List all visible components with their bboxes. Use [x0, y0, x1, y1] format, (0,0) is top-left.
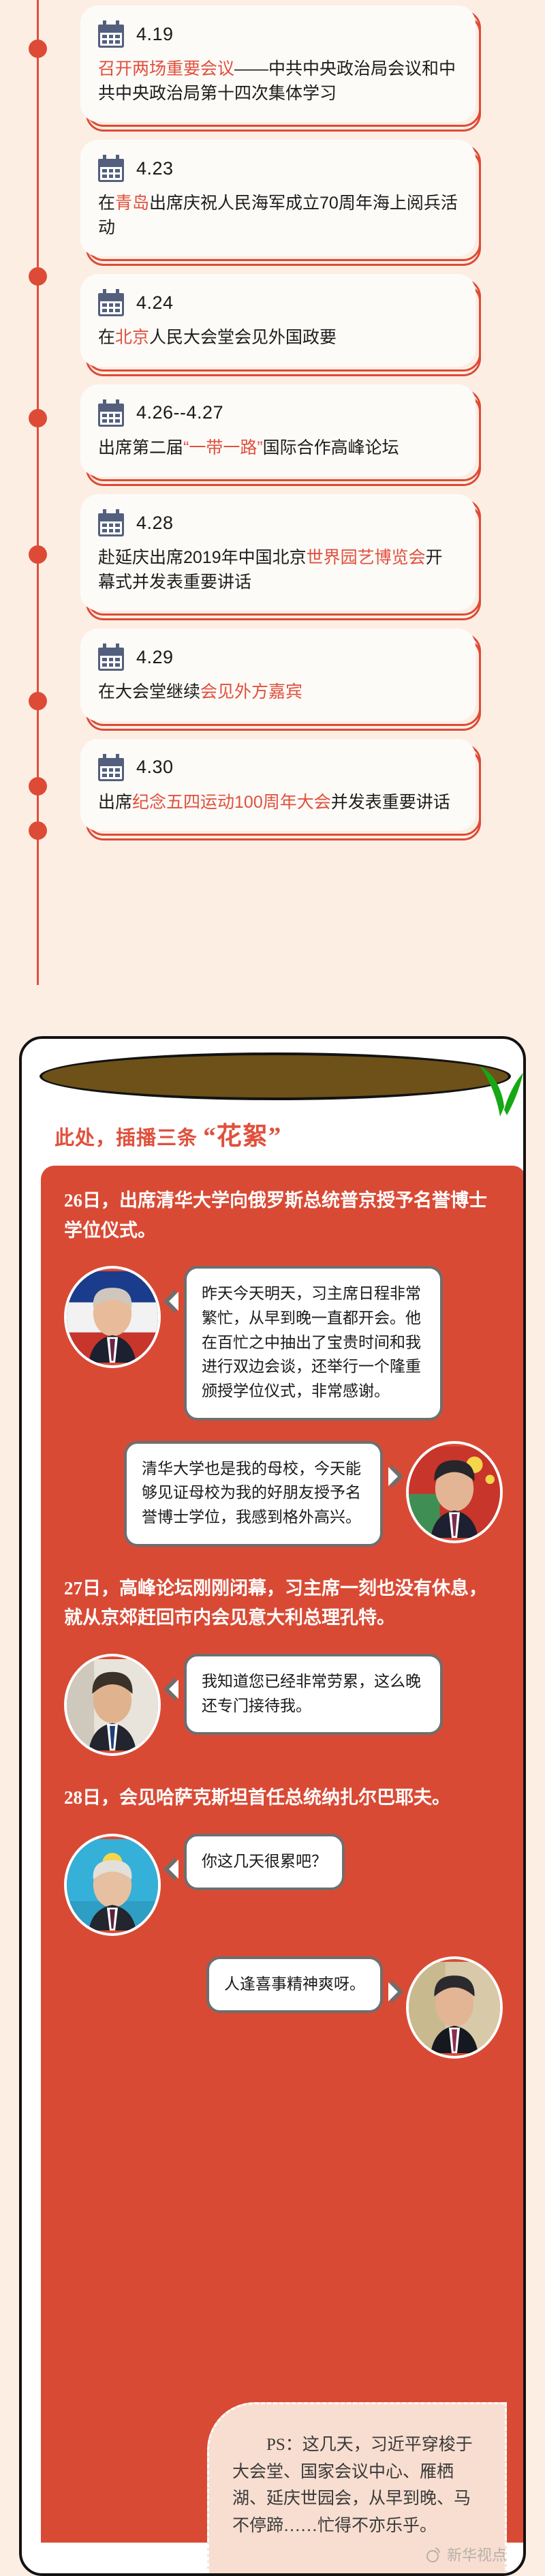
- story-heading: 26日，出席清华大学向俄罗斯总统普京授予名誉博士学位仪式。: [64, 1186, 503, 1245]
- card-body-text: 在北京人民大会堂会见外国政要: [98, 326, 458, 350]
- timeline-dot-6: [29, 821, 47, 840]
- card-text-segment: 并发表重要讲话: [331, 793, 450, 812]
- timeline-card[interactable]: 4.19召开两场重要会议——中共中央政治局会议和中共中央政治局第十四次集体学习: [80, 5, 476, 122]
- calendar-icon: [98, 754, 124, 781]
- speech-bubble: 人逢喜事精神爽呀。: [206, 1956, 383, 2014]
- speech-bubble: 昨天今天明天，习主席日程非常繁忙，从早到晚一直都开会。他在百忙之中抽出了宝贵时间…: [184, 1266, 443, 1420]
- calendar-icon: [98, 509, 124, 536]
- watermark-label: 新华视点: [447, 2543, 507, 2565]
- planter-title-prefix: 此处，插播三条: [54, 1127, 198, 1149]
- card-body-text: 出席第二届“一带一路”国际合作高峰论坛: [98, 436, 458, 461]
- card-text-segment: 出席庆祝人民海军成立70周年海上阅兵活动: [98, 194, 458, 237]
- planter-title: 此处，插播三条 “花絮”: [54, 1115, 504, 1152]
- planter-title-quoted: “花絮”: [203, 1123, 281, 1151]
- card-date: 4.26--4.27: [136, 402, 223, 423]
- timeline-card[interactable]: 4.29在大会堂继续会见外方嘉宾: [80, 628, 476, 721]
- card-body-text: 在青岛出席庆祝人民海军成立70周年海上阅兵活动: [98, 192, 458, 240]
- timeline-dot-3: [29, 545, 47, 564]
- card-text-segment: 在: [98, 328, 115, 347]
- card-text-segment: 出席: [98, 793, 132, 812]
- card-text-segment: “一带一路”: [183, 438, 263, 457]
- timeline-card[interactable]: 4.24在北京人民大会堂会见外国政要: [80, 274, 476, 367]
- bubble-row: 昨天今天明天，习主席日程非常繁忙，从早到晚一直都开会。他在百忙之中抽出了宝贵时间…: [64, 1266, 503, 1420]
- story-heading: 28日，会见哈萨克斯坦首任总统纳扎尔巴耶夫。: [64, 1783, 503, 1813]
- story-block: 28日，会见哈萨克斯坦首任总统纳扎尔巴耶夫。你这几天很累吧？人逢喜事精神爽呀。: [64, 1783, 503, 2059]
- watermark: 新华视点: [424, 2543, 507, 2565]
- bubble-row: 人逢喜事精神爽呀。: [64, 1956, 503, 2059]
- story-block: 26日，出席清华大学向俄罗斯总统普京授予名誉博士学位仪式。昨天今天明天，习主席日…: [64, 1186, 503, 1547]
- calendar-icon: [98, 20, 124, 48]
- xi-avatar-2: [406, 1956, 503, 2059]
- card-text-segment: 召开两场重要会议: [98, 59, 234, 78]
- timeline-dot-1: [29, 267, 47, 286]
- story-block: 27日，高峰论坛刚刚闭幕，习主席一刻也没有休息，就从京郊赶回市内会见意大利总理孔…: [64, 1574, 503, 1756]
- card-text-segment: 人民大会堂会见外国政要: [149, 328, 337, 347]
- card-header: 4.24: [98, 289, 458, 316]
- timeline-dot-4: [29, 692, 47, 710]
- timeline-dot-5: [29, 777, 47, 795]
- card-header: 4.26--4.27: [98, 399, 458, 427]
- timeline-card[interactable]: 4.23在青岛出席庆祝人民海军成立70周年海上阅兵活动: [80, 140, 476, 256]
- card-date: 4.19: [136, 24, 174, 45]
- bubble-row: 你这几天很累吧？: [64, 1834, 503, 1936]
- card-body-text: 在大会堂继续会见外方嘉宾: [98, 680, 458, 705]
- putin-avatar: [64, 1266, 161, 1368]
- calendar-icon: [98, 289, 124, 316]
- bubble-row: 我知道您已经非常劳累，这么晚还专门接待我。: [64, 1654, 503, 1756]
- card-body-text: 赴延庆出席2019年中国北京世界园艺博览会开幕式并发表重要讲话: [98, 546, 458, 594]
- sprout-icon: [477, 1065, 525, 1117]
- card-body-text: 召开两场重要会议——中共中央政治局会议和中共中央政治局第十四次集体学习: [98, 57, 458, 106]
- story-heading: 27日，高峰论坛刚刚闭幕，习主席一刻也没有休息，就从京郊赶回市内会见意大利总理孔…: [64, 1574, 503, 1633]
- card-text-segment: 青岛: [115, 194, 149, 213]
- card-date: 4.30: [136, 757, 174, 778]
- ps-text: PS：这几天，习近平穿梭于大会堂、国家会议中心、雁栖湖、延庆世园会，从早到晚、马…: [232, 2431, 482, 2539]
- card-header: 4.29: [98, 643, 458, 671]
- card-text-segment: 世界园艺博览会: [307, 548, 426, 567]
- nazarbayev-avatar: [64, 1834, 161, 1936]
- calendar-icon: [98, 155, 124, 182]
- planter-soil: [40, 1052, 511, 1100]
- timeline-section: 4.19召开两场重要会议——中共中央政治局会议和中共中央政治局第十四次集体学习4…: [0, 0, 545, 985]
- card-date: 4.24: [136, 292, 174, 314]
- calendar-icon: [98, 399, 124, 427]
- story-block-list: 26日，出席清华大学向俄罗斯总统普京授予名誉博士学位仪式。昨天今天明天，习主席日…: [64, 1186, 503, 2059]
- card-date: 4.29: [136, 647, 174, 668]
- card-date: 4.28: [136, 513, 174, 534]
- speech-bubble: 清华大学也是我的母校，今天能够见证母校为我的好朋友授予名誉博士学位，我感到格外高…: [124, 1441, 383, 1547]
- bubble-row: 清华大学也是我的母校，今天能够见证母校为我的好朋友授予名誉博士学位，我感到格外高…: [64, 1441, 503, 1547]
- card-header: 4.23: [98, 155, 458, 182]
- conte-avatar: [64, 1654, 161, 1756]
- card-text-segment: 赴延庆出席2019年中国北京: [98, 548, 307, 567]
- card-header: 4.28: [98, 509, 458, 536]
- card-date: 4.23: [136, 158, 174, 179]
- weibo-icon: [424, 2545, 441, 2563]
- card-header: 4.19: [98, 20, 458, 48]
- card-text-segment: 国际合作高峰论坛: [263, 438, 399, 457]
- calendar-icon: [98, 643, 124, 671]
- card-text-segment: 会见外方嘉宾: [200, 682, 302, 701]
- timeline-card[interactable]: 4.30出席纪念五四运动100周年大会并发表重要讲话: [80, 739, 476, 832]
- card-header: 4.30: [98, 754, 458, 781]
- card-text-segment: 在大会堂继续: [98, 682, 200, 701]
- card-text-segment: 出席第二届: [98, 438, 183, 457]
- card-text-segment: 在: [98, 194, 115, 213]
- speech-bubble: 你这几天很累吧？: [184, 1834, 345, 1891]
- timeline-card-list: 4.19召开两场重要会议——中共中央政治局会议和中共中央政治局第十四次集体学习4…: [0, 5, 545, 831]
- timeline-dot-2: [29, 409, 47, 427]
- timeline-card[interactable]: 4.28赴延庆出席2019年中国北京世界园艺博览会开幕式并发表重要讲话: [80, 494, 476, 611]
- story-panel: 26日，出席清华大学向俄罗斯总统普京授予名誉博士学位仪式。昨天今天明天，习主席日…: [41, 1166, 526, 2543]
- card-body-text: 出席纪念五四运动100周年大会并发表重要讲话: [98, 791, 458, 815]
- speech-bubble: 我知道您已经非常劳累，这么晚还专门接待我。: [184, 1654, 443, 1735]
- timeline-dot-0: [29, 40, 47, 58]
- planter-container: 此处，插播三条 “花絮” 26日，出席清华大学向俄罗斯总统普京授予名誉博士学位仪…: [19, 1036, 526, 2576]
- timeline-card[interactable]: 4.26--4.27出席第二届“一带一路”国际合作高峰论坛: [80, 384, 476, 477]
- card-text-segment: 北京: [115, 328, 149, 347]
- xi-avatar: [406, 1441, 503, 1543]
- card-text-segment: 纪念五四运动100周年大会: [132, 793, 331, 812]
